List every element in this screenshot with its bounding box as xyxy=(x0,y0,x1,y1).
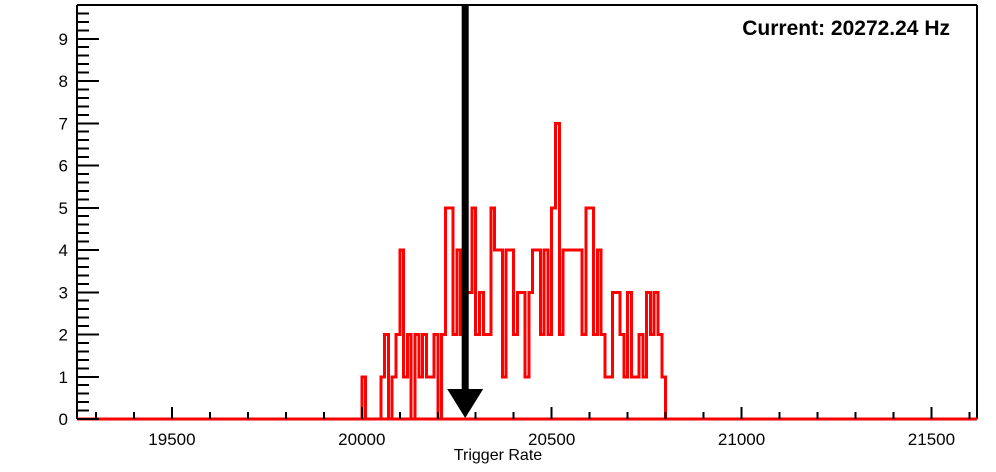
svg-text:0: 0 xyxy=(59,410,68,429)
svg-text:8: 8 xyxy=(59,72,68,91)
y-axis-ticks xyxy=(77,5,99,419)
root-canvas: 1950020000205002100021500 0123456789 Cur… xyxy=(0,0,996,472)
svg-text:3: 3 xyxy=(59,283,68,302)
x-axis-title: Trigger Rate xyxy=(0,447,996,465)
marker-arrowhead xyxy=(447,389,483,418)
histogram-series xyxy=(77,123,977,419)
plot-frame xyxy=(77,5,977,419)
svg-text:1: 1 xyxy=(59,368,68,387)
histogram-outline xyxy=(77,123,977,419)
svg-text:7: 7 xyxy=(59,114,68,133)
svg-text:6: 6 xyxy=(59,157,68,176)
current-rate-readout: Current: 20272.24 Hz xyxy=(742,17,950,41)
y-axis-tick-labels: 0123456789 xyxy=(59,30,68,429)
svg-text:2: 2 xyxy=(59,326,68,345)
svg-text:5: 5 xyxy=(59,199,68,218)
histogram-plot: 1950020000205002100021500 0123456789 xyxy=(0,0,996,472)
svg-text:4: 4 xyxy=(59,241,68,260)
x-axis-ticks xyxy=(96,407,969,419)
svg-text:9: 9 xyxy=(59,30,68,49)
